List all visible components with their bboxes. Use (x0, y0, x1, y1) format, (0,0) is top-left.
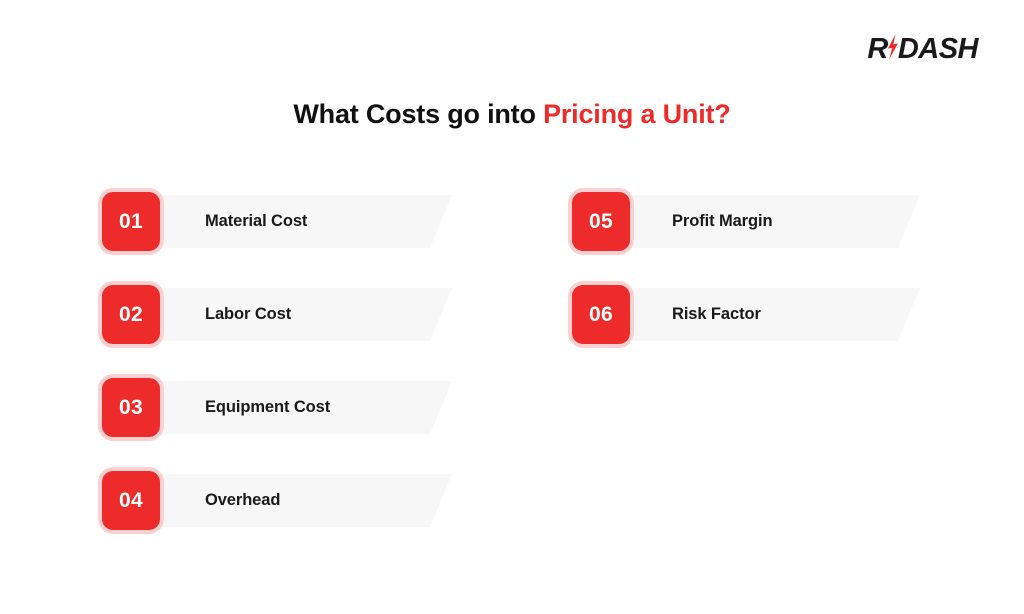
brand-name-prefix: R (867, 35, 887, 64)
lightning-bolt-icon (886, 34, 899, 64)
list-item-number-badge: 02 (102, 285, 160, 344)
list-item-number-badge: 05 (572, 192, 630, 251)
list-item-label: Profit Margin (672, 192, 772, 251)
list-item-label: Labor Cost (205, 285, 291, 344)
list-item-number-badge: 06 (572, 285, 630, 344)
list-item-number-badge: 03 (102, 378, 160, 437)
list-item-label: Material Cost (205, 192, 307, 251)
page-title-accent: Pricing a Unit? (543, 99, 731, 129)
list-item-label: Overhead (205, 471, 280, 530)
page-title-plain: What Costs go into (293, 99, 543, 129)
list-item-label: Equipment Cost (205, 378, 330, 437)
list-item-label: Risk Factor (672, 285, 761, 344)
list-item-number-badge: 04 (102, 471, 160, 530)
list-item-bar (112, 474, 452, 527)
brand-logo: R DASH (867, 32, 978, 66)
page-title: What Costs go into Pricing a Unit? (0, 98, 1024, 132)
list-item-number-badge: 01 (102, 192, 160, 251)
brand-name-suffix: DASH (898, 35, 978, 64)
